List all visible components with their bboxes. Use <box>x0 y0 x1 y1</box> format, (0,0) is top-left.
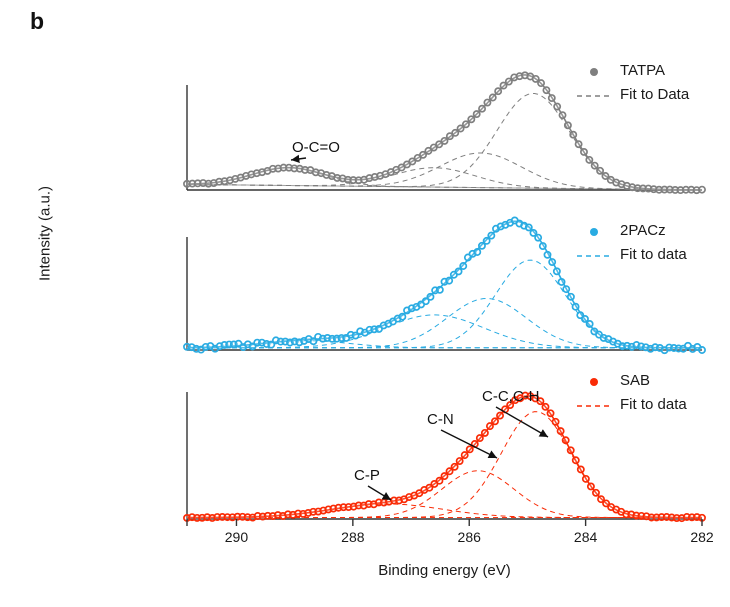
data-point <box>474 111 480 117</box>
annotation-arrow <box>291 158 306 160</box>
annotation-group <box>291 158 548 500</box>
data-point <box>484 99 490 105</box>
data-point <box>488 232 494 238</box>
data-point <box>474 249 480 255</box>
x-axis-label: Binding energy (eV) <box>187 562 702 579</box>
legend-marker-SAB <box>590 378 598 386</box>
annotation-label-c-n: C-N <box>427 411 454 428</box>
data-point <box>497 412 503 418</box>
data-point <box>492 418 498 424</box>
data-point <box>586 157 592 163</box>
y-axis-label: Intensity (a.u.) <box>37 134 54 334</box>
annotation-label-o-c-o: O-C=O <box>292 139 340 156</box>
x-tick-label: 288 <box>331 529 375 545</box>
legend-label-fit-to-data: Fit to Data <box>620 86 689 103</box>
data-point <box>452 464 458 470</box>
x-tick-label: 290 <box>214 529 258 545</box>
data-point <box>460 263 466 269</box>
data-point <box>558 279 564 285</box>
legend-label-tatpa: TATPA <box>620 62 665 79</box>
data-point <box>462 452 468 458</box>
data-point <box>581 149 587 155</box>
data-point <box>463 121 469 127</box>
data-point <box>427 294 433 300</box>
data-point <box>495 88 501 94</box>
data-point <box>699 347 705 353</box>
data-point <box>482 430 488 436</box>
data-point <box>699 187 705 193</box>
data-point <box>544 252 550 258</box>
data-point <box>597 168 603 174</box>
x-tick-label: 282 <box>680 529 724 545</box>
data-point <box>441 138 447 144</box>
data-point <box>547 410 553 416</box>
data-point <box>399 314 405 320</box>
data-point <box>538 80 544 86</box>
annotation-label-c-p: C-P <box>354 467 380 484</box>
legend-marker-2PACz <box>590 228 598 236</box>
fit-component-CCCH <box>187 260 702 348</box>
data-point <box>568 447 574 453</box>
data-point <box>554 103 560 109</box>
data-point <box>467 446 473 452</box>
x-tick-label: 286 <box>447 529 491 545</box>
data-point <box>558 428 564 434</box>
data-point <box>588 483 594 489</box>
annotation-arrow <box>496 407 548 437</box>
panel-letter: b <box>30 8 44 35</box>
data-point <box>592 163 598 169</box>
data-point <box>477 435 483 441</box>
data-point <box>484 238 490 244</box>
data-point <box>549 259 555 265</box>
data-point <box>563 286 569 292</box>
legend-label-fit-to-data: Fit to data <box>620 246 687 263</box>
data-point <box>583 476 589 482</box>
data-point <box>587 321 593 327</box>
data-point <box>446 278 452 284</box>
data-point <box>526 224 532 230</box>
data-point <box>535 235 541 241</box>
legend-marker-TATPA <box>590 68 598 76</box>
data-point <box>437 287 443 293</box>
data-point <box>455 268 461 274</box>
annotation-label-c-c-c-h: C-C,C-H <box>482 388 540 405</box>
data-point <box>578 466 584 472</box>
data-point <box>542 404 548 410</box>
annotation-arrow <box>368 486 391 500</box>
data-point <box>543 87 549 93</box>
data-point <box>593 490 599 496</box>
data-point <box>552 419 558 425</box>
data-point <box>573 457 579 463</box>
data-point <box>468 116 474 122</box>
data-point <box>559 112 565 118</box>
data-point <box>570 132 576 138</box>
data-point <box>568 294 574 300</box>
data-point <box>565 122 571 128</box>
data-point <box>554 268 560 274</box>
legend-label-sab: SAB <box>620 372 650 389</box>
data-point <box>549 95 555 101</box>
data-point <box>576 141 582 147</box>
x-tick-label: 284 <box>564 529 608 545</box>
legend-label-fit-to-data: Fit to data <box>620 396 687 413</box>
data-point <box>490 94 496 100</box>
data-point <box>563 437 569 443</box>
data-point <box>457 458 463 464</box>
data-point <box>479 106 485 112</box>
data-point <box>540 243 546 249</box>
data-point <box>572 304 578 310</box>
legend-label-2pacz: 2PACz <box>620 222 666 239</box>
